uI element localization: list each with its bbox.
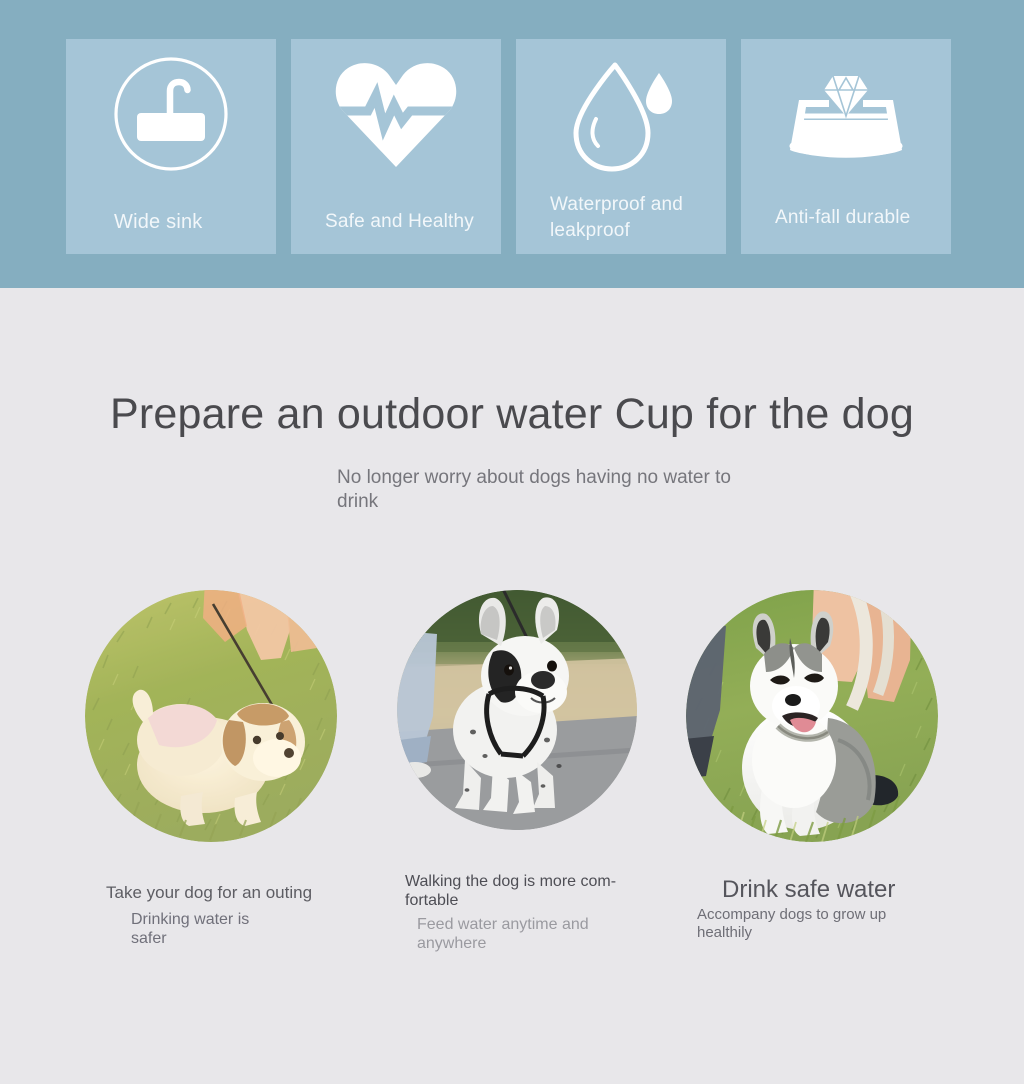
photo-caption: Walking the dog is more com- fortable Fe… (405, 872, 635, 953)
french-bulldog-on-pavement-with-harness-photo[interactable] (397, 590, 637, 830)
feature-label-waterproof-leakproof: Waterproof and leakproof (550, 192, 710, 244)
photo-caption-title: Take your dog for an outing (106, 882, 356, 904)
main-content-section: Prepare an outdoor water Cup for the dog… (0, 288, 1024, 1084)
feature-card-anti-fall-durable[interactable]: Anti-fall durable (741, 39, 951, 254)
photo-caption-title: Drink safe water (722, 875, 957, 905)
feature-card-wide-sink[interactable]: Wide sink (66, 39, 276, 254)
photo-caption-title: Walking the dog is more com- fortable (405, 872, 635, 910)
feature-card-list: Wide sink Safe and Healthy (66, 39, 960, 254)
feature-label-anti-fall-durable: Anti-fall durable (775, 205, 935, 231)
siberian-husky-sitting-on-grass-photo[interactable] (686, 590, 938, 842)
feature-card-waterproof-leakproof[interactable]: Waterproof and leakproof (516, 39, 726, 254)
photo-item[interactable]: Walking the dog is more com- fortable Fe… (397, 590, 637, 830)
photo-caption: Take your dog for an outing Drinking wat… (106, 882, 356, 948)
small-fluffy-dog-on-grass-with-leash-photo[interactable] (85, 590, 337, 842)
photo-caption-subtitle: Feed water anytime and anywhere (417, 915, 635, 953)
heartbeat-icon (291, 39, 501, 189)
photo-caption: Drink safe water Accompany dogs to grow … (697, 875, 957, 942)
photo-caption-subtitle: Accompany dogs to grow up healthily (697, 906, 957, 942)
photo-caption-subtitle: Drinking water is safer (131, 910, 356, 948)
waterdrop-icon (516, 39, 726, 189)
feature-banner: Wide sink Safe and Healthy (0, 0, 1024, 288)
sink-icon (66, 39, 276, 189)
feature-label-wide-sink: Wide sink (114, 209, 274, 235)
diamond-shield-icon (741, 39, 951, 189)
feature-card-safe-and-healthy[interactable]: Safe and Healthy (291, 39, 501, 254)
photo-item[interactable]: Take your dog for an outing Drinking wat… (85, 590, 337, 842)
photo-item[interactable]: Drink safe water Accompany dogs to grow … (686, 590, 938, 842)
photo-gallery-row: Take your dog for an outing Drinking wat… (0, 288, 1024, 1084)
feature-label-safe-and-healthy: Safe and Healthy (325, 209, 485, 235)
